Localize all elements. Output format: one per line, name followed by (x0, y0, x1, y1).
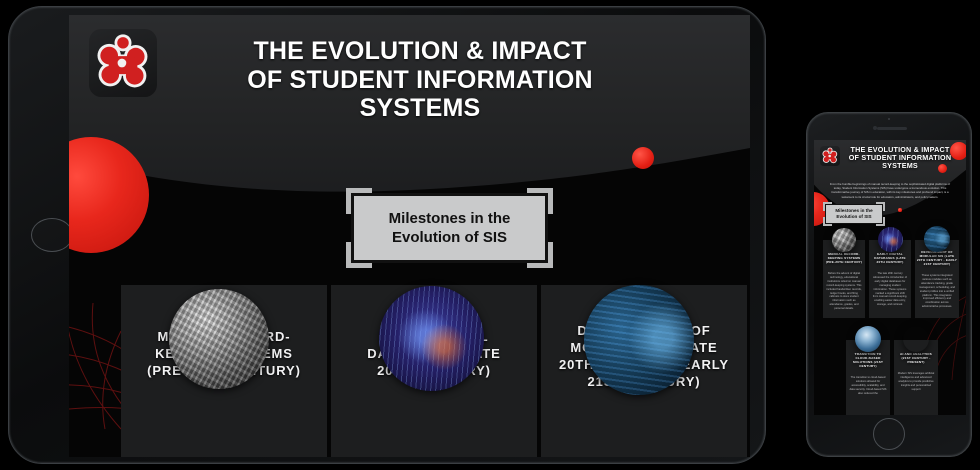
phone-speaker-grille (877, 127, 907, 130)
bracket-right-bottom (883, 217, 885, 226)
card-label: MANUAL RECORD- KEEPING SYSTEMS (PRE-20TH… (825, 252, 864, 264)
bracket-right-top (548, 188, 553, 214)
phone-sensor-dot (888, 118, 890, 120)
page-title-line-1: THE EVOLUTION & IMPACT (191, 37, 649, 66)
bracket-right-top (883, 202, 885, 211)
card-label-line: 20TH CENTURY) (871, 260, 910, 264)
page-title-line-3: SYSTEMS (191, 94, 649, 123)
card-photo-modular-sis-mobile (924, 226, 950, 252)
person-at-computer-photo (924, 226, 950, 252)
red-circle-decoration-tiny-mobile (898, 208, 902, 212)
card-body: The late 20th century witnessed the intr… (872, 272, 907, 307)
milestones-heading-box: Milestones in the Evolution of SIS (351, 193, 548, 263)
milestones-heading-line: Milestones in the (835, 208, 872, 213)
page-title-line: SYSTEMS (842, 162, 958, 170)
card-label: TRANSITION TO CLOUD-BASED SOLUTIONS (21S… (848, 352, 888, 368)
card-body: Before the advent of digital technology,… (826, 272, 861, 311)
milestones-heading-line-2: Evolution of SIS (392, 229, 507, 246)
bracket-right-bottom (548, 242, 553, 268)
phone-home-button[interactable] (873, 418, 905, 450)
red-circle-decoration-small (632, 147, 654, 169)
milestones-heading-box-mobile: Milestones in the Evolution of SIS (825, 204, 883, 224)
tablet-screen[interactable]: THE EVOLUTION & IMPACT OF STUDENT INFORM… (69, 15, 750, 457)
card-label: AI AND ANALYTICS (21ST CENTURY - PRESENT… (896, 352, 936, 364)
cloud-server-photo (855, 326, 881, 352)
canva-logo-tile-mobile (820, 146, 840, 166)
phone-device-frame: THE EVOLUTION & IMPACT OF STUDENT INFORM… (806, 112, 972, 457)
card-photo-manual-record-keeping-mobile (832, 228, 856, 252)
card-label: DEVELOPMENT OF MODULAR SIS (LATE 20TH CE… (917, 250, 957, 266)
tablet-device-frame: THE EVOLUTION & IMPACT OF STUDENT INFORM… (8, 6, 766, 464)
futuristic-digital-interface-photo (379, 286, 484, 391)
page-title-line-2: OF STUDENT INFORMATION (191, 66, 649, 95)
card-photo-cloud-based-solutions-mobile (855, 326, 881, 352)
card-label-line: CENTURY) (848, 364, 888, 368)
card-body: Modern SIS leverages artificial intellig… (898, 372, 935, 392)
page-title-mobile: THE EVOLUTION & IMPACT OF STUDENT INFORM… (842, 146, 958, 171)
card-label: EARLY DIGITAL DATABASES (LATE 20TH CENTU… (871, 252, 910, 264)
milestones-heading-line: Evolution of SIS (836, 214, 871, 219)
person-at-computer-photo (584, 285, 694, 395)
tablet-home-button[interactable] (31, 218, 73, 252)
canva-logo-tile (89, 29, 157, 97)
ai-neural-network-photo (903, 326, 929, 352)
milestones-heading-block: Milestones in the Evolution of SIS (351, 193, 548, 263)
historical-office-clerks-photo (832, 228, 856, 252)
card-photo-manual-record-keeping (169, 289, 269, 389)
milestones-heading-line-1: Milestones in the (389, 210, 511, 227)
canva-logo-icon-mobile (820, 146, 840, 166)
intro-paragraph: From the humble beginnings of manual rec… (826, 182, 954, 199)
card-photo-early-digital-databases (379, 286, 484, 391)
phone-screen[interactable]: THE EVOLUTION & IMPACT OF STUDENT INFORM… (814, 140, 966, 415)
historical-office-clerks-photo (169, 289, 269, 389)
slide-canvas-tablet: THE EVOLUTION & IMPACT OF STUDENT INFORM… (69, 15, 750, 457)
card-label-line: 21ST CENTURY) (917, 262, 957, 266)
page-title: THE EVOLUTION & IMPACT OF STUDENT INFORM… (191, 37, 649, 123)
milestones-heading-block-mobile: Milestones in the Evolution of SIS (825, 204, 883, 224)
card-photo-modular-sis (584, 285, 694, 395)
screenshot-stage: THE EVOLUTION & IMPACT OF STUDENT INFORM… (0, 0, 980, 470)
card-photo-ai-and-analytics-mobile (903, 326, 929, 352)
slide-canvas-phone: THE EVOLUTION & IMPACT OF STUDENT INFORM… (814, 140, 966, 415)
card-label-line: PRESENT) (896, 360, 936, 364)
card-body: These systems integrated various modules… (919, 274, 956, 309)
card-label-line: (PRE-20TH CENTURY) (825, 260, 864, 264)
canva-logo-icon (89, 29, 157, 97)
card-photo-early-digital-databases-mobile (878, 227, 903, 252)
futuristic-digital-interface-photo (878, 227, 903, 252)
card-body: The transition to cloud-based solutions … (850, 376, 887, 396)
